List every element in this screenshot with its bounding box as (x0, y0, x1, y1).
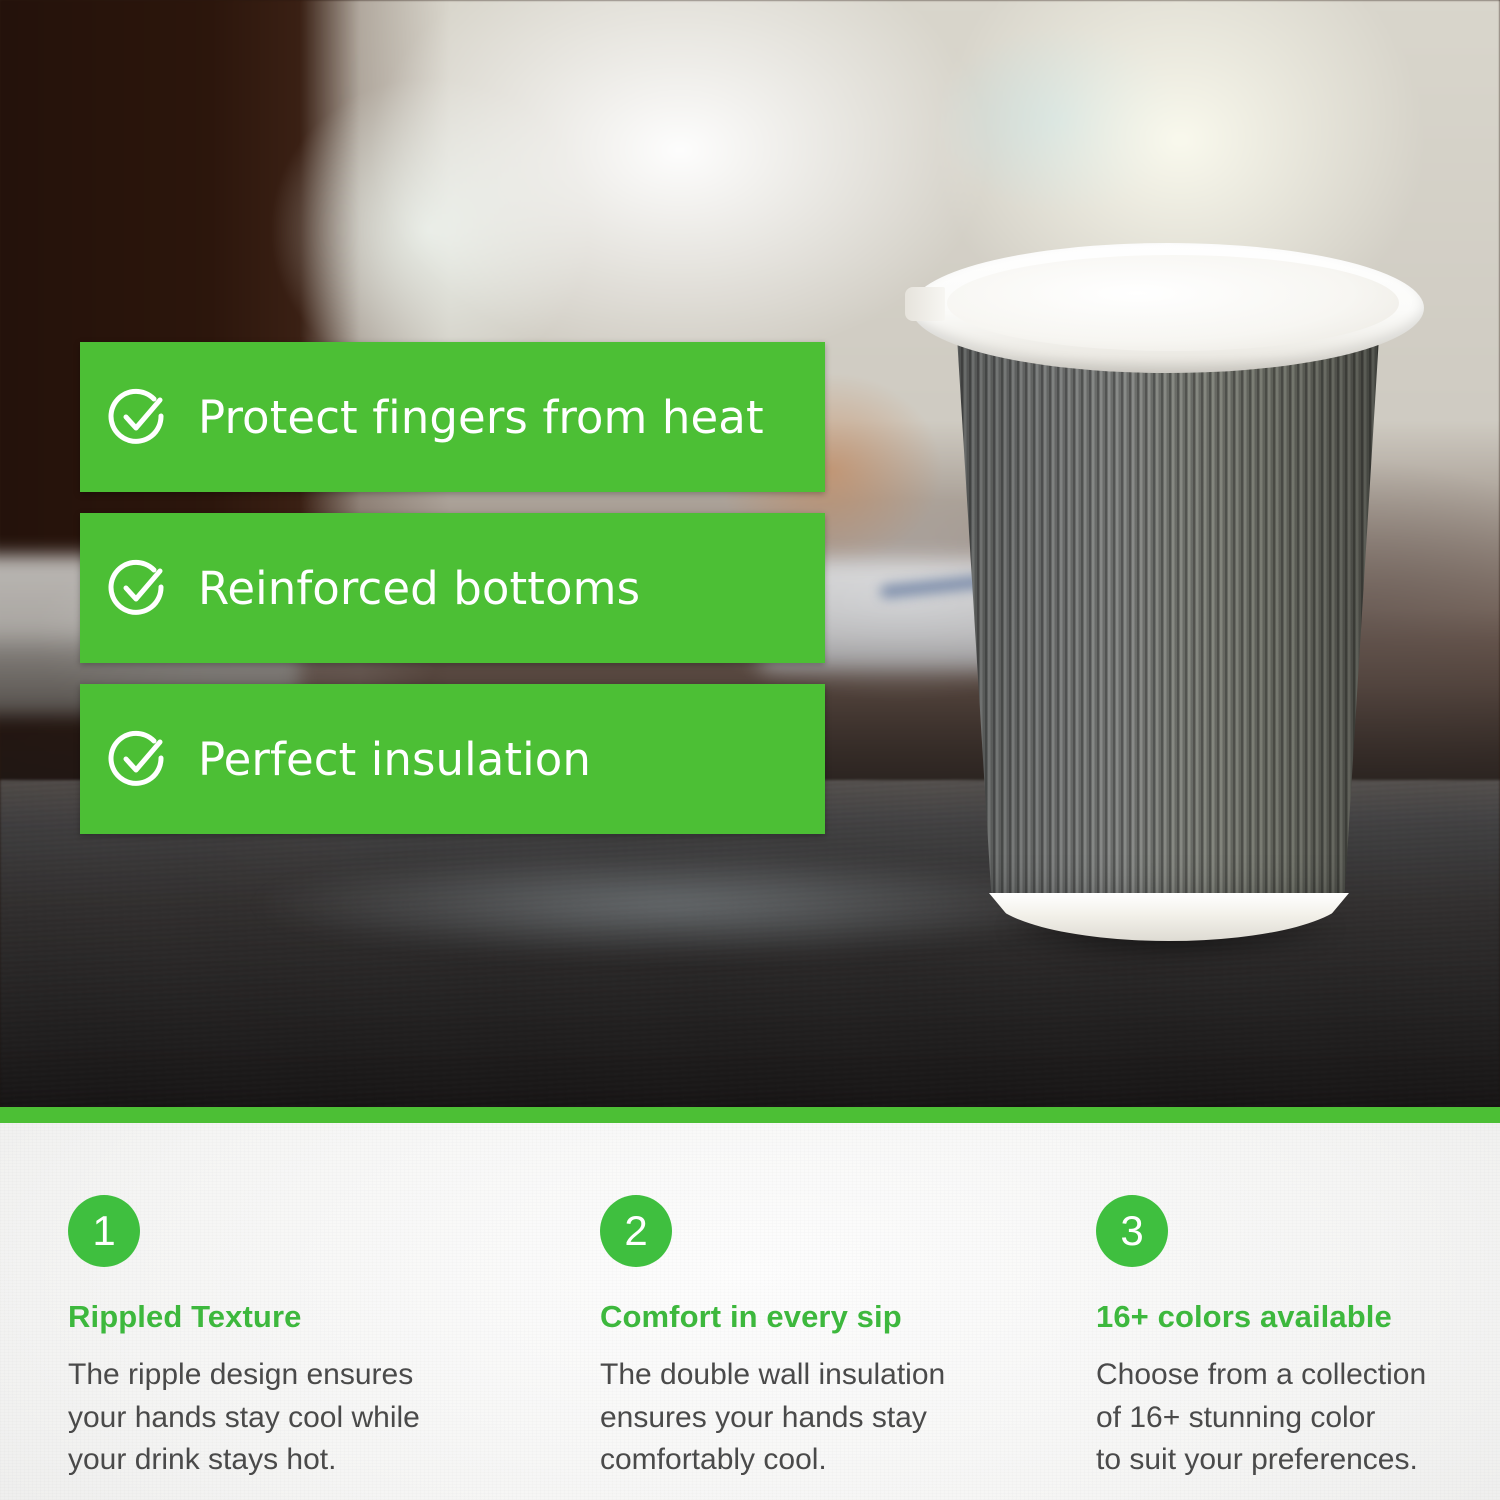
feature-description: The double wall insulation ensures your … (600, 1354, 1030, 1482)
features-section: 1 Rippled Texture The ripple design ensu… (0, 1123, 1500, 1500)
features-columns: 1 Rippled Texture The ripple design ensu… (0, 1123, 1500, 1500)
hero-photo: Protect fingers from heat Reinforced bot… (0, 0, 1500, 1107)
product-infographic: Protect fingers from heat Reinforced bot… (0, 0, 1500, 1500)
feature-banner-label: Protect fingers from heat (198, 395, 764, 440)
feature-number-badge: 1 (68, 1195, 140, 1267)
check-circle-icon (80, 556, 198, 620)
coffee-cup-product-image (905, 243, 1430, 978)
feature-number-badge: 3 (1096, 1195, 1168, 1267)
check-circle-icon (80, 727, 198, 791)
feature-number-badge: 2 (600, 1195, 672, 1267)
feature-banner: Protect fingers from heat (80, 342, 825, 492)
feature-title: 16+ colors available (1096, 1301, 1500, 1332)
feature-column: 1 Rippled Texture The ripple design ensu… (68, 1123, 498, 1482)
feature-column: 3 16+ colors available Choose from a col… (1096, 1123, 1500, 1482)
feature-banner-label: Reinforced bottoms (198, 566, 640, 611)
cup-lid-tab (905, 287, 945, 321)
feature-banner: Reinforced bottoms (80, 513, 825, 663)
feature-banner-label: Perfect insulation (198, 737, 591, 782)
cup-ripple-body (929, 309, 1407, 929)
feature-column: 2 Comfort in every sip The double wall i… (600, 1123, 1030, 1482)
green-divider-bar (0, 1107, 1500, 1123)
check-circle-icon (80, 385, 198, 449)
cup-lid-inner-surface (947, 255, 1399, 351)
feature-title: Comfort in every sip (600, 1301, 1030, 1332)
feature-banner: Perfect insulation (80, 684, 825, 834)
feature-description: The ripple design ensures your hands sta… (68, 1354, 498, 1482)
feature-description: Choose from a collection of 16+ stunning… (1096, 1354, 1500, 1482)
cup-white-lid (911, 243, 1424, 373)
feature-title: Rippled Texture (68, 1301, 498, 1332)
